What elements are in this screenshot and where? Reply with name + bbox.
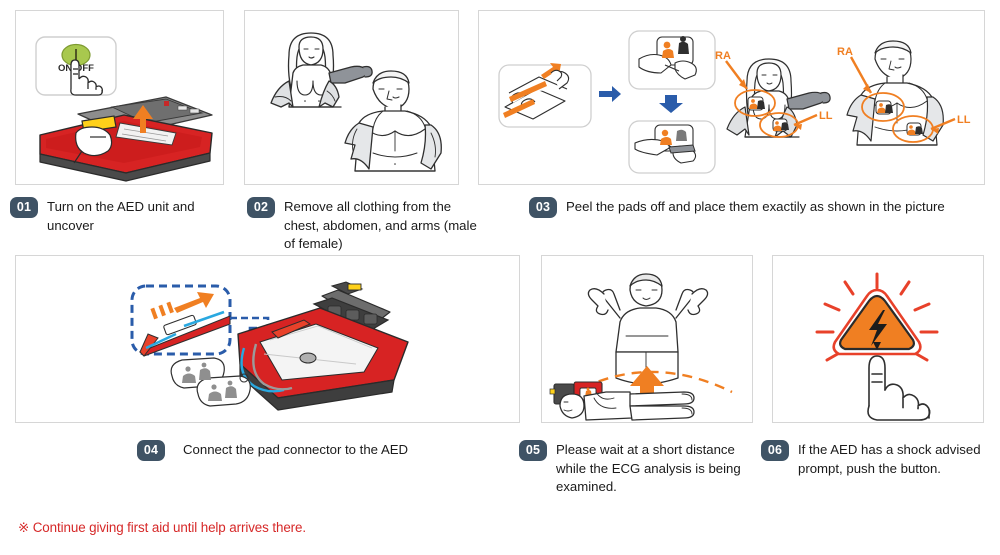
step-badge-01: 01 [10, 197, 38, 218]
step-badge-03: 03 [529, 197, 557, 218]
remove-clothing-illustration [245, 11, 458, 184]
step-text-02: Remove all clothing from the chest, abdo… [284, 197, 479, 254]
blue-arrow-down-icon [659, 95, 683, 113]
step-caption-03: 03 Peel the pads off and place them exac… [529, 197, 989, 218]
label-ll-female: LL [819, 110, 833, 122]
blue-arrow-right-icon [599, 86, 621, 102]
aed-power-on-illustration: ON/OFF [16, 11, 223, 184]
step-text-05: Please wait at a short distance while th… [556, 440, 751, 497]
peel-and-place-pads-illustration: RA LL [479, 11, 984, 184]
connect-pad-connector-illustration [16, 256, 519, 422]
step-text-06: If the AED has a shock advised prompt, p… [798, 440, 993, 478]
step-caption-04: 04 Connect the pad connector to the AED [137, 440, 467, 461]
label-ra-male: RA [837, 46, 853, 58]
press-shock-button-illustration [773, 256, 983, 422]
step-panel-03: RA LL [478, 10, 985, 185]
step-panel-04 [15, 255, 520, 423]
step-caption-02: 02 Remove all clothing from the chest, a… [247, 197, 479, 254]
step-caption-06: 06 If the AED has a shock advised prompt… [761, 440, 993, 478]
step-panel-05 [541, 255, 753, 423]
step-badge-05: 05 [519, 440, 547, 461]
footer-note: ※ Continue giving first aid until help a… [18, 520, 306, 536]
step-caption-05: 05 Please wait at a short distance while… [519, 440, 751, 497]
step-badge-06: 06 [761, 440, 789, 461]
step-text-03: Peel the pads off and place them exactil… [566, 197, 945, 217]
aed-instructions-page: ON/OFF [0, 0, 1000, 555]
step-text-04: Connect the pad connector to the AED [174, 440, 408, 460]
label-ll-male: LL [957, 114, 971, 126]
stand-clear-analysis-illustration [542, 256, 752, 422]
step-caption-01: 01 Turn on the AED unit and uncover [10, 197, 235, 235]
step-panel-06 [772, 255, 984, 423]
step-panel-01: ON/OFF [15, 10, 224, 185]
step-panel-02 [244, 10, 459, 185]
label-ra-female: RA [715, 50, 731, 62]
step-badge-02: 02 [247, 197, 275, 218]
step-badge-04: 04 [137, 440, 165, 461]
step-text-01: Turn on the AED unit and uncover [47, 197, 235, 235]
